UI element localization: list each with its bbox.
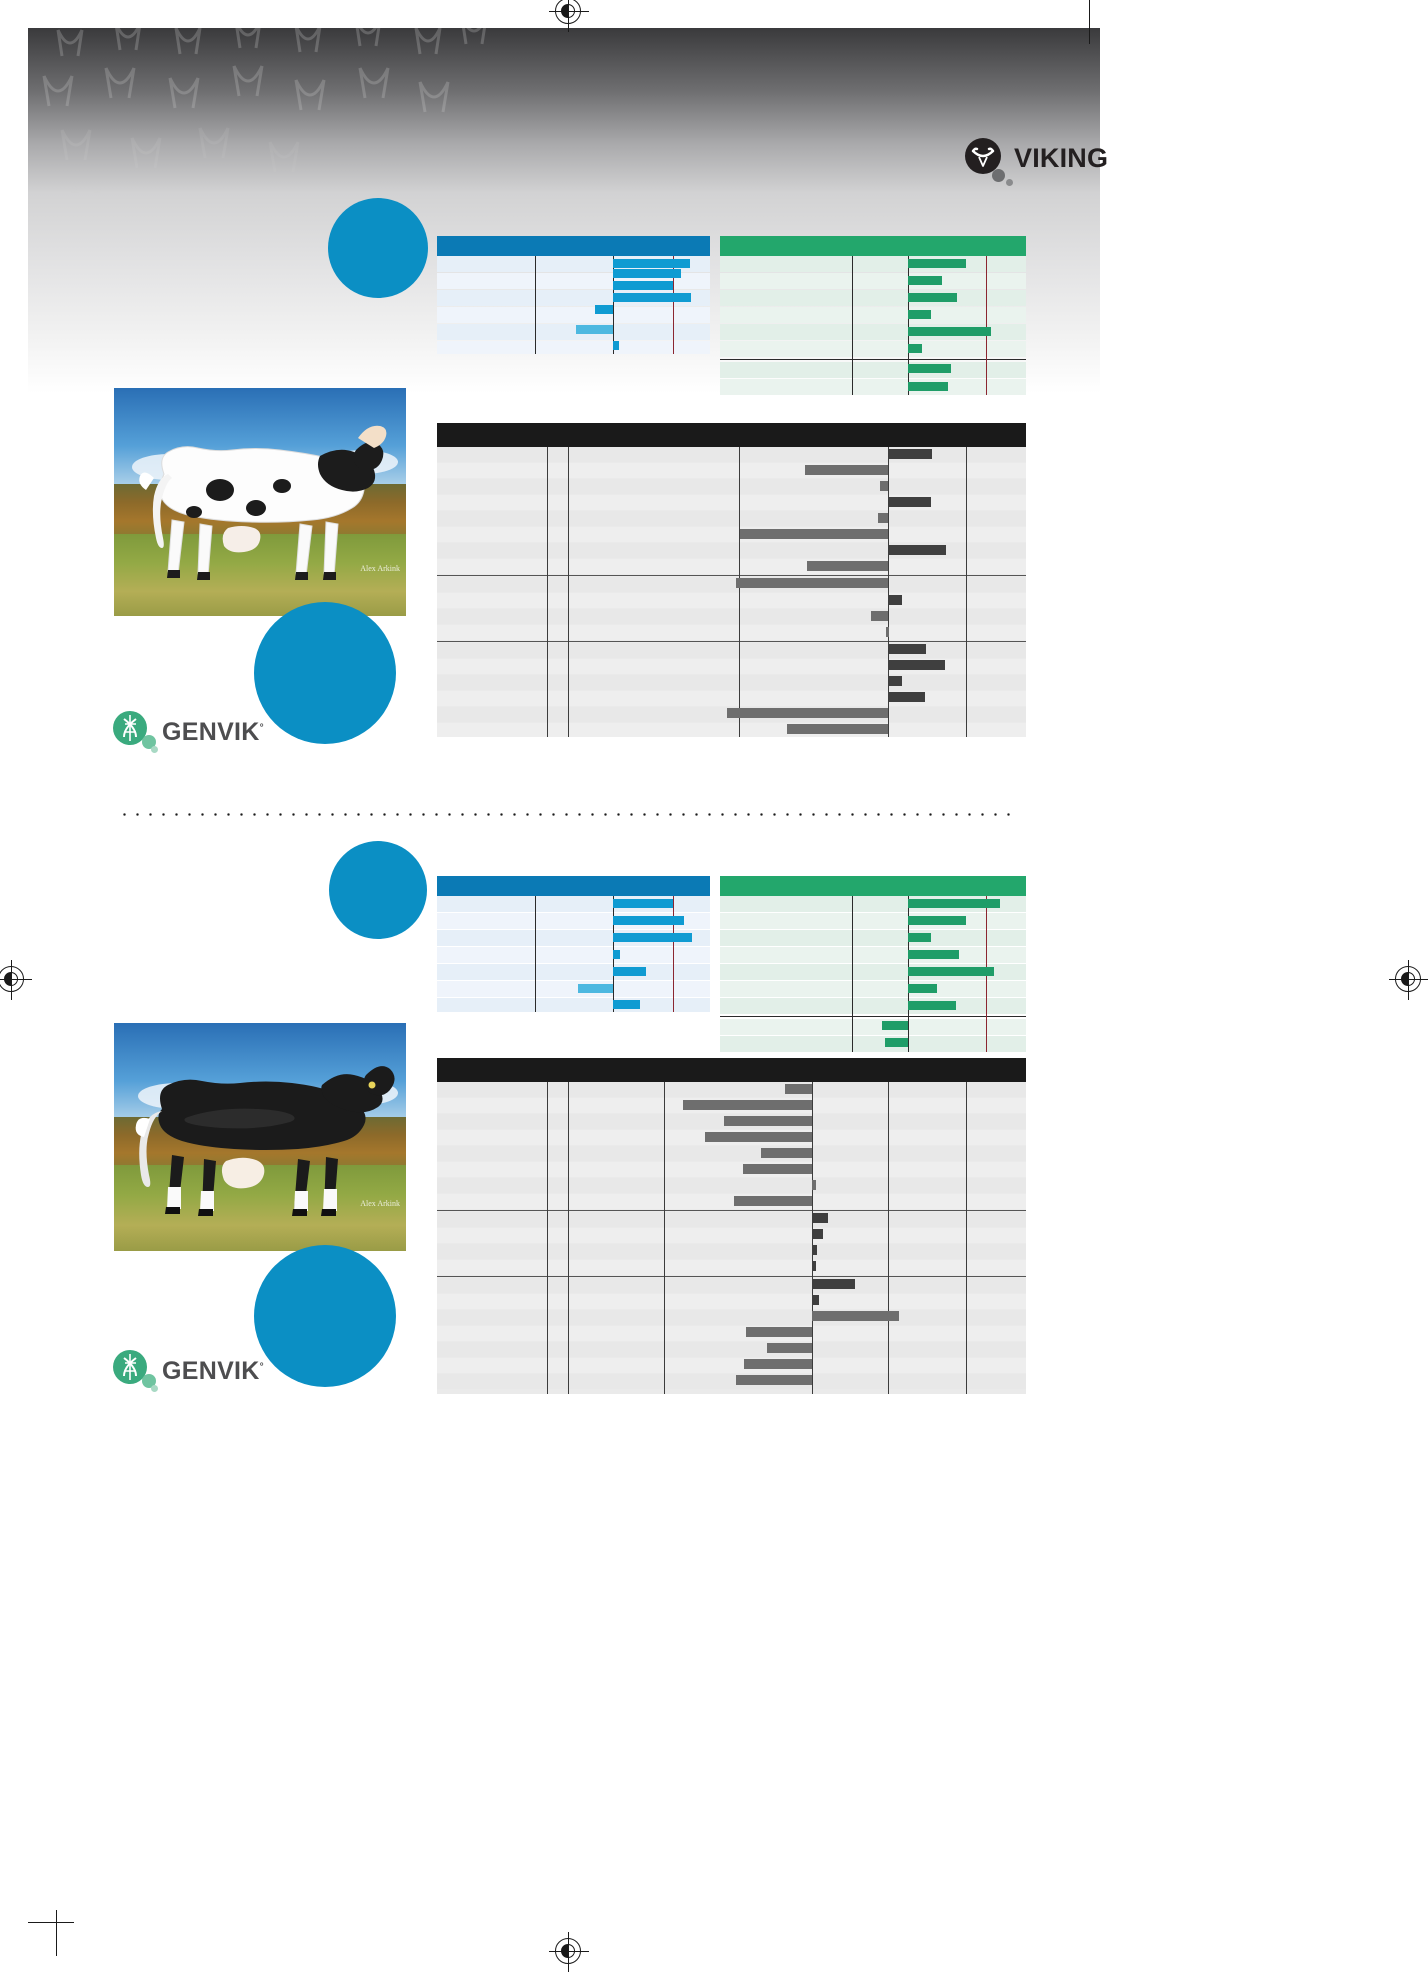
genvik-circle-small	[151, 746, 158, 753]
table-row	[437, 479, 1026, 494]
production-table-header	[437, 876, 710, 896]
table-row	[437, 723, 1026, 737]
scale-line-left	[852, 896, 853, 1052]
table-row	[437, 324, 710, 340]
conformation-bar	[805, 465, 887, 475]
conformation-table-body	[437, 447, 1026, 737]
conformation-bar	[787, 724, 887, 734]
table-row	[437, 511, 1026, 526]
column-divider	[966, 447, 967, 737]
conformation-bar	[767, 1343, 812, 1353]
index-bar	[613, 916, 684, 925]
section1-health-index-table	[720, 236, 1026, 400]
table-row	[437, 947, 710, 963]
conformation-bar	[705, 1132, 812, 1142]
genvik-logo-2: GENVIK°	[113, 1350, 264, 1392]
index-bar	[613, 293, 691, 302]
index-bar	[908, 967, 994, 976]
index-bar	[908, 950, 958, 959]
scale-line-left	[535, 256, 536, 354]
index-bar-negative	[882, 1021, 908, 1030]
conformation-bar	[812, 1279, 855, 1289]
index-bar-negative	[576, 325, 613, 334]
conformation-table-header	[437, 1058, 1026, 1082]
index-bar	[908, 1001, 955, 1010]
table-row	[437, 998, 710, 1012]
cow-head-pattern	[28, 28, 498, 193]
registered-mark: ®	[1246, 148, 1254, 160]
registration-target-icon	[0, 966, 24, 992]
table-row	[437, 527, 1026, 542]
registration-target-icon	[1395, 966, 1421, 992]
photo-credit: Alex Arkink	[360, 564, 400, 573]
scale-line-right	[673, 896, 674, 1012]
conformation-bar	[888, 692, 925, 702]
conformation-bar	[736, 1375, 812, 1385]
table-row	[720, 362, 1026, 378]
index-bar	[908, 899, 1000, 908]
column-divider	[547, 447, 548, 737]
conformation-bar	[886, 627, 889, 637]
column-divider	[888, 1082, 889, 1394]
index-bar	[595, 305, 613, 314]
conformation-bar	[888, 497, 931, 507]
table-row	[437, 593, 1026, 608]
table-row	[720, 379, 1026, 395]
bull-photo-1: Alex Arkink	[114, 388, 406, 616]
table-row	[720, 341, 1026, 357]
table-row	[720, 273, 1026, 289]
index-bar	[908, 984, 937, 993]
conformation-bar	[761, 1148, 812, 1158]
column-divider	[568, 447, 569, 737]
logo-dot-large	[992, 169, 1005, 182]
health-table-body	[720, 896, 1026, 1064]
index-bar-negative	[578, 984, 613, 993]
section2-health-index-table	[720, 876, 1026, 1064]
table-row	[437, 495, 1026, 510]
scale-line-left	[535, 896, 536, 1012]
registration-target-icon	[555, 1938, 581, 1964]
vikingholstein-wordmark: VIKINGHOLSTEIN®	[1014, 145, 1255, 172]
conformation-bar	[888, 449, 932, 459]
dna-helix-icon	[113, 1350, 155, 1392]
index-bar	[908, 364, 951, 373]
table-row	[720, 947, 1026, 963]
table-section-rule	[437, 1210, 1026, 1211]
table-section-rule	[437, 575, 1026, 576]
table-row	[720, 1019, 1026, 1035]
table-row	[437, 1228, 1026, 1243]
section2-top-badge	[329, 841, 427, 939]
table-row	[720, 981, 1026, 997]
table-row	[437, 1082, 1026, 1097]
conformation-bar	[744, 1359, 812, 1369]
table-section-rule	[437, 1276, 1026, 1277]
table-row	[437, 964, 710, 980]
table-row	[437, 1374, 1026, 1389]
table-row	[437, 447, 1026, 462]
index-bar	[908, 327, 991, 336]
table-row	[437, 463, 1026, 478]
conformation-bar	[888, 545, 947, 555]
section2-bottom-badge	[254, 1245, 396, 1387]
conformation-bar	[878, 513, 888, 523]
section2-production-index-table	[437, 876, 710, 1012]
production-table-body	[437, 896, 710, 1012]
table-row	[437, 559, 1026, 574]
table-row	[437, 1278, 1026, 1293]
table-row	[720, 998, 1026, 1014]
conformation-bar	[724, 1116, 812, 1126]
index-bar	[908, 916, 966, 925]
index-bar	[908, 933, 931, 942]
table-row	[437, 675, 1026, 690]
index-bar	[908, 293, 957, 302]
section1-conformation-table	[437, 423, 1026, 737]
genvik-logo-1: GENVIK°	[113, 711, 264, 753]
conformation-bar	[812, 1295, 818, 1305]
conformation-bar	[727, 708, 888, 718]
conformation-bar	[871, 611, 887, 621]
table-row	[720, 307, 1026, 323]
conformation-bar	[807, 561, 887, 571]
conformation-bar	[888, 676, 903, 686]
table-row	[437, 1310, 1026, 1325]
conformation-bar	[746, 1327, 812, 1337]
conformation-bar	[743, 1164, 812, 1174]
conformation-bar	[812, 1180, 816, 1190]
table-row	[437, 1178, 1026, 1193]
genvik-wordmark: GENVIK°	[162, 1357, 264, 1386]
holstein-cow-silhouette	[126, 1049, 398, 1227]
table-row	[720, 1036, 1026, 1052]
dotted-divider	[118, 813, 1018, 816]
table-row	[437, 609, 1026, 624]
table-row	[720, 930, 1026, 946]
index-bar	[613, 259, 689, 268]
table-row	[437, 1326, 1026, 1341]
conformation-bar	[683, 1100, 812, 1110]
wordmark-holstein: HOLSTEIN	[1108, 143, 1246, 173]
dna-helix-icon	[113, 711, 155, 753]
scale-line-right	[986, 256, 987, 395]
table-row	[437, 981, 710, 997]
table-row	[437, 625, 1026, 640]
registration-target-icon	[555, 0, 581, 24]
index-bar	[908, 259, 966, 268]
vikingholstein-logo: VIKINGHOLSTEIN®	[965, 138, 1255, 178]
cow-head-icon	[965, 138, 1005, 178]
health-table-header	[720, 876, 1026, 896]
crop-mark	[1089, 0, 1090, 44]
table-row	[437, 1212, 1026, 1227]
index-bar	[613, 933, 692, 942]
conformation-bar	[812, 1213, 827, 1223]
index-bar	[613, 950, 620, 959]
column-divider	[568, 1082, 569, 1394]
table-row	[437, 1294, 1026, 1309]
conformation-table-body	[437, 1082, 1026, 1394]
health-table-body	[720, 256, 1026, 400]
index-bar-negative	[885, 1038, 908, 1047]
conformation-bar	[888, 660, 945, 670]
column-divider	[966, 1082, 967, 1394]
section1-top-badge	[328, 198, 428, 298]
logo-dot-small	[1006, 179, 1013, 186]
index-bar	[908, 310, 931, 319]
conformation-bar	[888, 595, 903, 605]
table-row	[437, 1194, 1026, 1209]
conformation-bar	[740, 529, 887, 539]
column-divider	[739, 447, 740, 737]
table-row	[437, 307, 710, 323]
index-bar	[613, 341, 618, 350]
conformation-bar	[785, 1084, 813, 1094]
table-row	[720, 290, 1026, 306]
bull-photo-2: Alex Arkink	[114, 1023, 406, 1251]
index-bar	[613, 967, 646, 976]
conformation-bar	[880, 481, 888, 491]
conformation-bar	[812, 1261, 816, 1271]
holstein-cow-silhouette	[124, 416, 399, 588]
scale-line-left	[852, 256, 853, 395]
conformation-bar	[812, 1229, 823, 1239]
photo-credit: Alex Arkink	[360, 1199, 400, 1208]
production-table-header	[437, 236, 710, 256]
table-row	[437, 691, 1026, 706]
table-row	[437, 1260, 1026, 1275]
crop-mark	[56, 1910, 57, 1956]
genvik-circle-small	[151, 1385, 158, 1392]
table-row	[437, 1358, 1026, 1373]
table-row	[437, 577, 1026, 592]
column-divider	[664, 1082, 665, 1394]
index-bar	[908, 276, 942, 285]
section2-conformation-table	[437, 1058, 1026, 1394]
conformation-bar	[736, 578, 887, 588]
page-header-band	[28, 28, 1100, 193]
conformation-bar	[812, 1311, 899, 1321]
table-row	[437, 1244, 1026, 1259]
crop-mark	[28, 1922, 74, 1923]
table-row	[437, 643, 1026, 658]
table-row	[720, 913, 1026, 929]
section1-bottom-badge	[254, 602, 396, 744]
conformation-bar	[888, 644, 926, 654]
genvik-wordmark: GENVIK°	[162, 718, 264, 747]
table-row	[437, 1162, 1026, 1177]
table-rule	[720, 359, 1026, 360]
conformation-table-header	[437, 423, 1026, 447]
index-bar	[613, 899, 673, 908]
table-row	[437, 1342, 1026, 1357]
column-divider	[547, 1082, 548, 1394]
index-bar	[908, 344, 922, 353]
index-bar	[908, 382, 948, 391]
conformation-bar	[734, 1196, 812, 1206]
table-section-rule	[437, 641, 1026, 642]
production-table-body	[437, 256, 710, 354]
conformation-bar	[812, 1245, 817, 1255]
section1-production-index-table	[437, 236, 710, 354]
table-rule	[720, 1016, 1026, 1017]
table-row	[437, 1146, 1026, 1161]
wordmark-viking: VIKING	[1014, 143, 1108, 173]
index-bar	[613, 1000, 640, 1009]
table-row	[437, 341, 710, 354]
table-row	[720, 256, 1026, 272]
index-bar	[613, 281, 673, 290]
health-table-header	[720, 236, 1026, 256]
index-bar	[613, 269, 681, 278]
